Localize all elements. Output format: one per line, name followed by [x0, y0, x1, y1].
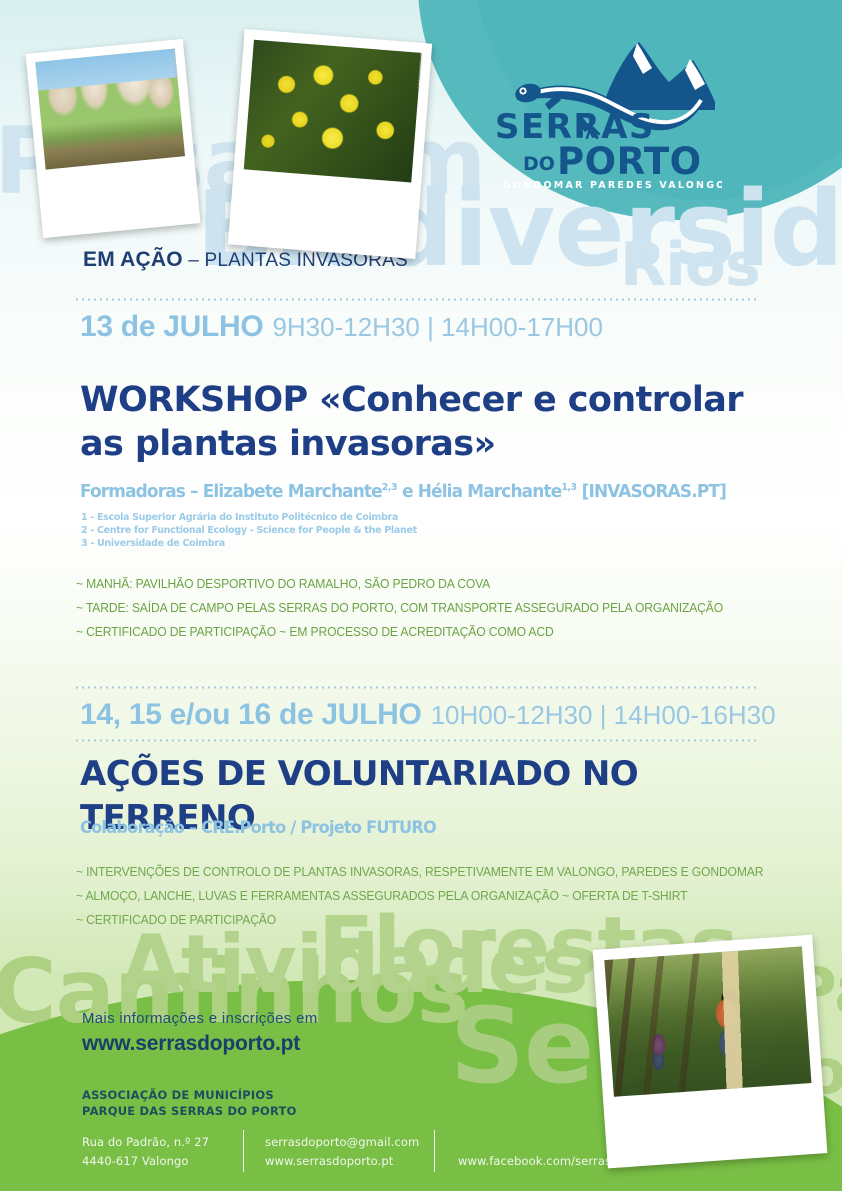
section-1-bullet-3: ~ CERTIFICADO DE PARTICIPAÇÃO ~ EM PROCE…	[76, 620, 723, 644]
logo-do-text: DO	[523, 153, 555, 175]
footer-divider-1	[243, 1130, 244, 1172]
section-2-bullet-2: ~ ALMOÇO, LANCHE, LUVAS E FERRAMENTAS AS…	[76, 884, 763, 908]
logo-municipalities-text: GONDOMAR PAREDES VALONGO	[503, 180, 722, 190]
trainers-sup-2: 1,3	[561, 482, 576, 493]
volunteers-forest-image	[604, 946, 811, 1096]
address-line-1: Rua do Padrão, n.º 27	[82, 1133, 209, 1152]
section-1-dateline: 13 de JULHO9H30-12H30 | 14H00-17H00	[80, 310, 603, 344]
section-1-footnotes: 1 - Escola Superior Agrária do Instituto…	[81, 511, 417, 550]
footnote-3: 3 - Universidade de Coimbra	[81, 537, 417, 550]
serras-do-porto-logo: SERRAS DO PORTO GONDOMAR PAREDES VALONGO	[487, 30, 722, 190]
divider-dotted-3	[74, 739, 756, 742]
divider-dotted-1	[74, 298, 756, 301]
footer-contacts: serrasdoporto@gmail.com www.serrasdoport…	[265, 1133, 419, 1171]
section-2-date: 14, 15 e/ou 16 de JULHO	[80, 698, 422, 731]
more-info-label: Mais informações e inscrições em	[82, 1010, 318, 1027]
trainers-sup-1: 2,3	[382, 482, 397, 493]
trainers-suffix: [INVASORAS.PT]	[577, 481, 726, 502]
footnote-2: 2 - Centre for Functional Ecology - Scie…	[81, 524, 417, 537]
pampas-grass-image	[35, 49, 185, 170]
section-2-bullet-1: ~ INTERVENÇÕES DE CONTROLO DE PLANTAS IN…	[76, 860, 763, 884]
section-1-title: WORKSHOP «Conhecer e controlar as planta…	[80, 378, 780, 466]
volunteers-forest-photo	[593, 935, 828, 1169]
section-2-hours: 10H00-12H30 | 14H00-16H30	[431, 700, 776, 730]
divider-dotted-2	[74, 686, 756, 689]
section-2-bullet-3: ~ CERTIFICADO DE PARTICIPAÇÃO	[76, 908, 763, 932]
footnote-1: 1 - Escola Superior Agrária do Instituto…	[81, 511, 417, 524]
section-1-bullet-2: ~ TARDE: SAÍDA DE CAMPO PELAS SERRAS DO …	[76, 596, 723, 620]
main-website-link[interactable]: www.serrasdoporto.pt	[82, 1032, 300, 1056]
section-2-bullets: ~ INTERVENÇÕES DE CONTROLO DE PLANTAS IN…	[76, 860, 785, 932]
section-1-bullets: ~ MANHÃ: PAVILHÃO DESPORTIVO DO RAMALHO,…	[76, 572, 743, 644]
trainers-prefix: Formadoras – Elizabete Marchante	[80, 481, 382, 502]
acacia-flowers-photo: serrasdoporto.pt	[228, 29, 432, 259]
organization-name: ASSOCIAÇÃO DE MUNICÍPIOS PARQUE DAS SERR…	[82, 1087, 297, 1119]
organization-line-2: PARQUE DAS SERRAS DO PORTO	[82, 1103, 297, 1119]
acacia-flowers-image	[244, 40, 422, 183]
footer-address: Rua do Padrão, n.º 27 4440-617 Valongo	[82, 1133, 209, 1171]
section-1-bullet-1: ~ MANHÃ: PAVILHÃO DESPORTIVO DO RAMALHO,…	[76, 572, 723, 596]
footer-divider-2	[434, 1130, 435, 1172]
poster: Paisagem Biodiversidade Rios Caminhos At…	[0, 0, 842, 1191]
section-2-dateline: 14, 15 e/ou 16 de JULHO10H00-12H30 | 14H…	[80, 698, 776, 732]
pampas-grass-photo: serrasdoporto.pt	[25, 39, 200, 238]
page-title-bold: EM AÇÃO	[83, 248, 183, 271]
address-line-2: 4440-617 Valongo	[82, 1152, 209, 1171]
trainers-mid: e Hélia Marchante	[397, 481, 561, 502]
section-2-collaboration: Colaboração – CRE.Porto / Projeto FUTURO	[80, 818, 436, 838]
email-link[interactable]: serrasdoporto@gmail.com	[265, 1133, 419, 1152]
section-1-trainers: Formadoras – Elizabete Marchante2,3 e Hé…	[80, 481, 726, 502]
section-1-date: 13 de JULHO	[80, 310, 263, 343]
organization-line-1: ASSOCIAÇÃO DE MUNICÍPIOS	[82, 1087, 297, 1103]
section-1-hours: 9H30-12H30 | 14H00-17H00	[272, 312, 603, 342]
logo-porto-text: PORTO	[557, 140, 702, 183]
website-link[interactable]: www.serrasdoporto.pt	[265, 1152, 419, 1171]
